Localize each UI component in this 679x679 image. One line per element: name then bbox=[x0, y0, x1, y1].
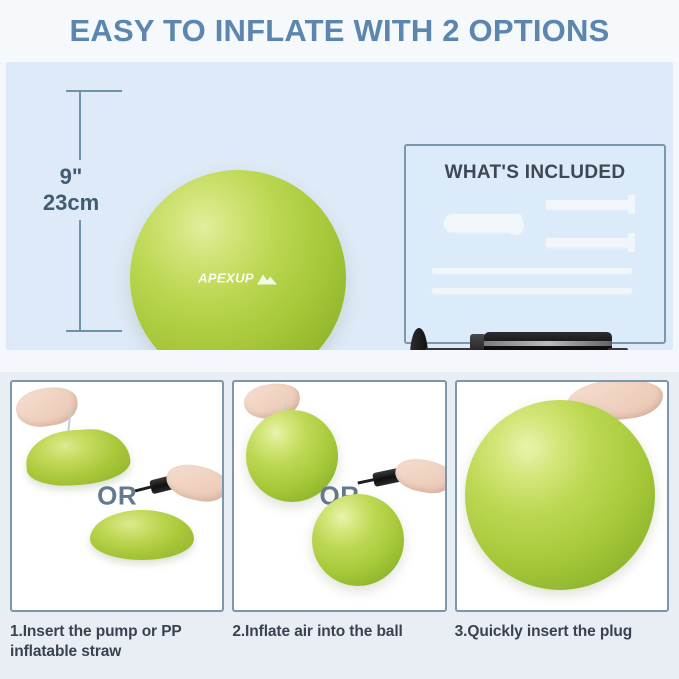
product-ball: APEXUP bbox=[130, 170, 346, 350]
or-label: OR bbox=[97, 481, 137, 512]
step-3-caption: 3.Quickly insert the plug bbox=[455, 622, 669, 642]
mountain-icon bbox=[256, 272, 278, 286]
step-2-caption: 2.Inflate air into the ball bbox=[232, 622, 446, 642]
step-2: OR 2.Inflate air into the ball bbox=[232, 380, 446, 663]
whats-included-title: WHAT'S INCLUDED bbox=[406, 162, 664, 184]
whats-included-box: WHAT'S INCLUDED bbox=[404, 144, 666, 344]
plug-remover-tool-icon bbox=[444, 214, 522, 232]
plug-icon bbox=[546, 238, 632, 247]
deflated-ball bbox=[24, 426, 132, 488]
inflating-ball bbox=[312, 494, 404, 586]
step-3-illustration bbox=[455, 380, 669, 612]
step-1-caption: 1.Insert the pump or PP inflatable straw bbox=[10, 622, 224, 663]
brand-logo: APEXUP bbox=[198, 271, 278, 286]
step-1-illustration: OR bbox=[10, 380, 224, 612]
top-panel: 9" 23cm APEXUP WHAT'S INCLUDED bbox=[6, 62, 673, 350]
dimension-cap-bottom bbox=[66, 330, 122, 332]
deflated-ball bbox=[90, 510, 194, 560]
hand-pump-illustration bbox=[410, 320, 656, 350]
dimension-label: 9" 23cm bbox=[16, 160, 126, 220]
hand-icon bbox=[163, 460, 224, 506]
inflatable-straw-icon bbox=[432, 268, 632, 273]
inflatable-straw-icon bbox=[432, 288, 632, 293]
steps-row: OR 1.Insert the pump or PP inflatable st… bbox=[0, 372, 679, 663]
page-title: EASY TO INFLATE WITH 2 OPTIONS bbox=[70, 13, 610, 49]
dimension-centimeters: 23cm bbox=[16, 190, 126, 216]
hand-icon bbox=[13, 383, 81, 431]
dimension-inches: 9" bbox=[16, 164, 126, 190]
hand-icon bbox=[392, 455, 446, 497]
infographic-page: EASY TO INFLATE WITH 2 OPTIONS 9" 23cm A… bbox=[0, 0, 679, 679]
plug-icon bbox=[546, 200, 632, 209]
pump-handle bbox=[410, 328, 428, 350]
header: EASY TO INFLATE WITH 2 OPTIONS bbox=[0, 0, 679, 62]
dimension-cap-top bbox=[66, 90, 122, 92]
bottom-panel: OR 1.Insert the pump or PP inflatable st… bbox=[0, 372, 679, 679]
pump-body bbox=[484, 332, 612, 350]
step-3: 3.Quickly insert the plug bbox=[455, 380, 669, 663]
accessories-group bbox=[406, 190, 664, 310]
pump-nose bbox=[608, 348, 628, 350]
inflated-ball bbox=[465, 400, 655, 590]
brand-name: APEXUP bbox=[198, 271, 254, 286]
step-2-illustration: OR bbox=[232, 380, 446, 612]
step-1: OR 1.Insert the pump or PP inflatable st… bbox=[10, 380, 224, 663]
